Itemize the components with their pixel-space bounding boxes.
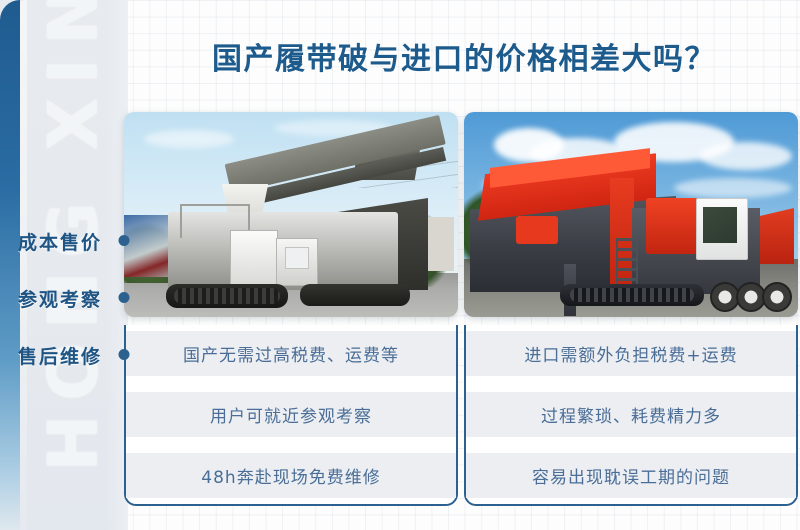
list-item: 过程繁琐、耗费精力多 [466,392,796,437]
operator-cabin [696,198,748,260]
crawler-track [560,284,704,306]
cloud [700,142,792,170]
rows-frame-imported: 进口需额外负担税费+运费 过程繁琐、耗费精力多 容易出现耽误工期的问题 [464,325,798,506]
column-imported: 进口需额外负担税费+运费 过程繁琐、耗费精力多 容易出现耽误工期的问题 [464,112,798,494]
crawler-track [166,284,288,308]
row-label-cost: 成本售价 [18,228,102,255]
bullet-dot [119,235,130,246]
control-panel [276,238,318,286]
list-item: 用户可就近参观考察 [126,392,456,437]
rows-imported: 进口需额外负担税费+运费 过程繁琐、耗费精力多 容易出现耽误工期的问题 [466,331,796,498]
row-label-column: 成本售价 参观考察 售后维修 [0,213,124,394]
column-domestic: 国产无需过高税费、运费等 用户可就近参观考察 48h奔赴现场免费维修 [124,112,458,494]
list-item: 48h奔赴现场免费维修 [126,453,456,498]
row-label-service: 售后维修 [18,342,102,369]
list-item: 国产无需过高税费、运费等 [126,331,456,376]
cloud [144,130,234,148]
rows-domestic: 国产无需过高税费、运费等 用户可就近参观考察 48h奔赴现场免费维修 [126,331,456,498]
trailer-wheel [762,282,792,312]
bullet-dot [119,349,130,360]
page-title: 国产履带破与进口的价格相差大吗？ [128,34,800,78]
rows-frame-domestic: 国产无需过高税费、运费等 用户可就近参观考察 48h奔赴现场免费维修 [124,325,458,506]
chassis-wheels [300,284,410,306]
machine-red-detail [516,216,558,244]
cloud [674,178,792,198]
photo-domestic-crusher [124,112,458,317]
list-item: 进口需额外负担税费+运费 [466,331,796,376]
poster-canvas: HONG XING 国产履带破与进口的价格相差大吗？ [0,0,800,530]
bullet-dot [119,292,130,303]
row-label-visit: 参观考察 [18,285,102,312]
photo-imported-crusher [464,112,798,317]
list-item: 容易出现耽误工期的问题 [466,453,796,498]
